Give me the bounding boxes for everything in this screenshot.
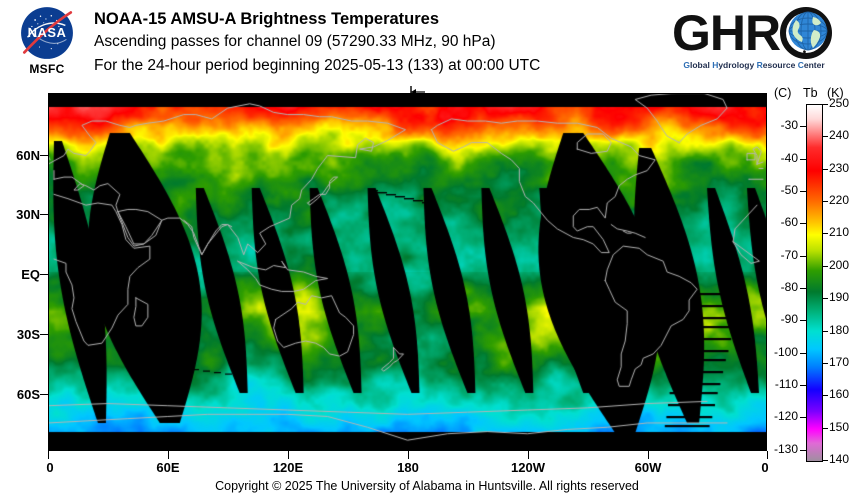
colorbar-label-c-60: -60 xyxy=(764,215,798,229)
colorbar-tick-c-40 xyxy=(800,159,806,160)
globe-icon xyxy=(783,10,829,56)
lat-label-eq: EQ xyxy=(0,267,40,282)
colorbar-label-c-30: -30 xyxy=(764,118,798,132)
lat-label-30s: 30S xyxy=(0,327,40,342)
lon-tick-120w xyxy=(528,451,529,459)
temperature-colorbar[interactable] xyxy=(806,104,823,462)
lon-label-0e: 0 xyxy=(761,460,768,475)
lat-tick-eq xyxy=(40,274,48,275)
title-block: NOAA-15 AMSU-A Brightness Temperatures A… xyxy=(94,8,540,78)
colorbar-label-c-130: -130 xyxy=(764,442,798,456)
page-subtitle-period: For the 24-hour period beginning 2025-05… xyxy=(94,54,540,78)
colorbar-tick-k-160 xyxy=(822,395,828,396)
colorbar-tick-k-230 xyxy=(822,169,828,170)
nasa-center-label: MSFC xyxy=(10,62,84,76)
colorbar-tick-c-60 xyxy=(800,223,806,224)
colorbar-label-k-190: 190 xyxy=(829,290,849,304)
colorbar-label-c-90: -90 xyxy=(764,312,798,326)
lat-label-30n: 30N xyxy=(0,207,40,222)
lon-tick-0w xyxy=(48,451,49,459)
ghrc-tagline: Global Hydrology Resource Center xyxy=(674,60,834,70)
lat-tick-30n xyxy=(40,214,48,215)
colorbar-label-k-240: 240 xyxy=(829,128,849,142)
colorbar-tick-c-130 xyxy=(800,450,806,451)
colorbar-label-c-120: -120 xyxy=(764,409,798,423)
colorbar-tick-c-120 xyxy=(800,417,806,418)
colorbar-label-k-140: 140 xyxy=(829,452,849,466)
brightness-temperature-map[interactable] xyxy=(48,93,767,451)
lon-label-120w: 120W xyxy=(511,460,545,475)
lon-label-60w: 60W xyxy=(635,460,662,475)
lon-label-0w: 0 xyxy=(46,460,53,475)
lon-label-60e: 60E xyxy=(156,460,179,475)
lat-tick-30s xyxy=(40,334,48,335)
page-subtitle-channel: Ascending passes for channel 09 (57290.3… xyxy=(94,30,540,54)
lon-tick-60e xyxy=(168,451,169,459)
colorbar-label-k-230: 230 xyxy=(829,161,849,175)
colorbar-label-c-40: -40 xyxy=(764,151,798,165)
colorbar-label-k-150: 150 xyxy=(829,420,849,434)
colorbar-label-c-50: -50 xyxy=(764,183,798,197)
lat-label-60s: 60S xyxy=(0,387,40,402)
colorbar-label-c-110: -110 xyxy=(764,377,798,391)
colorbar-label-k-160: 160 xyxy=(829,387,849,401)
colorbar-label-k-250: 250 xyxy=(829,96,849,110)
colorbar-tick-k-150 xyxy=(822,428,828,429)
page-header: NASA MSFC NOAA-15 AMSU-A Brightness Temp… xyxy=(0,0,854,88)
colorbar-label-c-100: -100 xyxy=(764,345,798,359)
colorbar-tick-k-210 xyxy=(822,233,828,234)
colorbar-label-k-220: 220 xyxy=(829,193,849,207)
colorbar-tick-k-170 xyxy=(822,363,828,364)
nasa-logo: NASA MSFC xyxy=(10,6,84,84)
colorbar-tick-c-80 xyxy=(800,288,806,289)
nasa-meatball-icon: NASA xyxy=(20,6,74,60)
colorbar-tick-k-200 xyxy=(822,266,828,267)
colorbar-tick-c-70 xyxy=(800,256,806,257)
colorbar-tick-k-240 xyxy=(822,136,828,137)
map-canvas[interactable] xyxy=(48,93,767,451)
lon-tick-60w xyxy=(648,451,649,459)
page-title: NOAA-15 AMSU-A Brightness Temperatures xyxy=(94,8,540,30)
colorbar-tick-c-50 xyxy=(800,191,806,192)
colorbar-tick-c-100 xyxy=(800,353,806,354)
lon-tick-180 xyxy=(408,451,409,459)
colorbar-tick-c-90 xyxy=(800,320,806,321)
colorbar-variable: Tb xyxy=(803,86,818,100)
colorbar-label-c-70: -70 xyxy=(764,248,798,262)
ghrc-wordmark-icon: GHR xyxy=(672,6,838,60)
svg-text:GHR: GHR xyxy=(672,6,781,60)
colorbar-tick-c-30 xyxy=(800,126,806,127)
colorbar-left-unit: (C) xyxy=(774,86,791,100)
colorbar-tick-k-220 xyxy=(822,201,828,202)
colorbar-label-k-180: 180 xyxy=(829,323,849,337)
lat-label-60n: 60N xyxy=(0,148,40,163)
lon-label-120e: 120E xyxy=(273,460,303,475)
colorbar-tick-k-250 xyxy=(822,104,828,105)
colorbar-label-k-210: 210 xyxy=(829,225,849,239)
colorbar-label-k-170: 170 xyxy=(829,355,849,369)
copyright-notice: Copyright © 2025 The University of Alaba… xyxy=(0,479,854,493)
colorbar-tick-k-180 xyxy=(822,331,828,332)
lon-tick-120e xyxy=(288,451,289,459)
lat-tick-60s xyxy=(40,394,48,395)
colorbar-tick-c-110 xyxy=(800,385,806,386)
colorbar-tick-k-140 xyxy=(822,460,828,461)
lat-tick-60n xyxy=(40,155,48,156)
ghrc-logo: GHR Global Hydrology Resource Center xyxy=(672,4,838,80)
colorbar-tick-k-190 xyxy=(822,298,828,299)
colorbar-label-k-200: 200 xyxy=(829,258,849,272)
lon-label-180: 180 xyxy=(397,460,419,475)
swath-start-marker-icon xyxy=(408,86,426,96)
svg-text:NASA: NASA xyxy=(28,25,67,40)
colorbar-label-c-80: -80 xyxy=(764,280,798,294)
